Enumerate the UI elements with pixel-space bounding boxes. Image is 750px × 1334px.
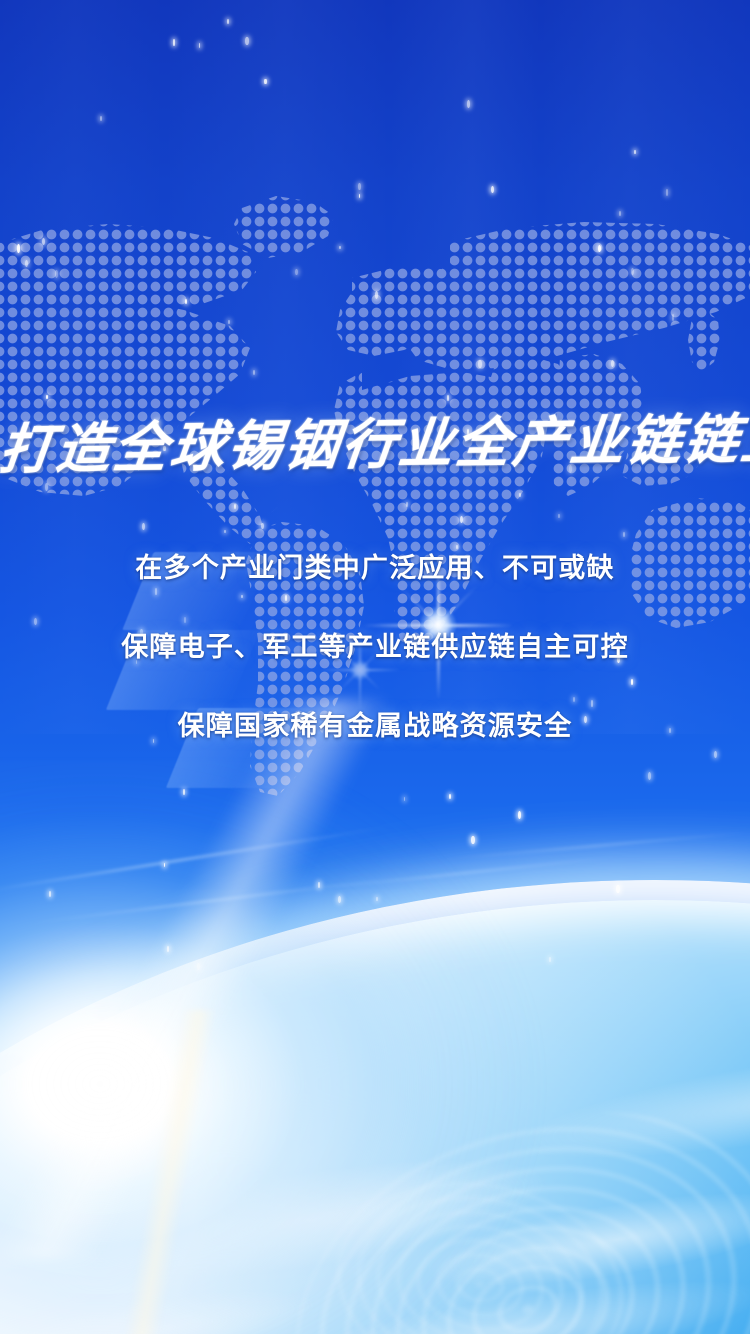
poster-root: 打造全球锡铟行业全产业链链主 在多个产业门类中广泛应用、不可或缺 保障电子、军工… xyxy=(0,0,750,1334)
poster-content: 打造全球锡铟行业全产业链链主 在多个产业门类中广泛应用、不可或缺 保障电子、军工… xyxy=(0,0,750,1334)
subtitle-line-1: 在多个产业门类中广泛应用、不可或缺 xyxy=(0,555,750,582)
subtitle-line-2: 保障电子、军工等产业链供应链自主可控 xyxy=(0,634,750,661)
page-title: 打造全球锡铟行业全产业链链主 xyxy=(0,409,750,480)
subtitle-list: 在多个产业门类中广泛应用、不可或缺 保障电子、军工等产业链供应链自主可控 保障国… xyxy=(0,555,750,740)
subtitle-line-3: 保障国家稀有金属战略资源安全 xyxy=(0,713,750,740)
